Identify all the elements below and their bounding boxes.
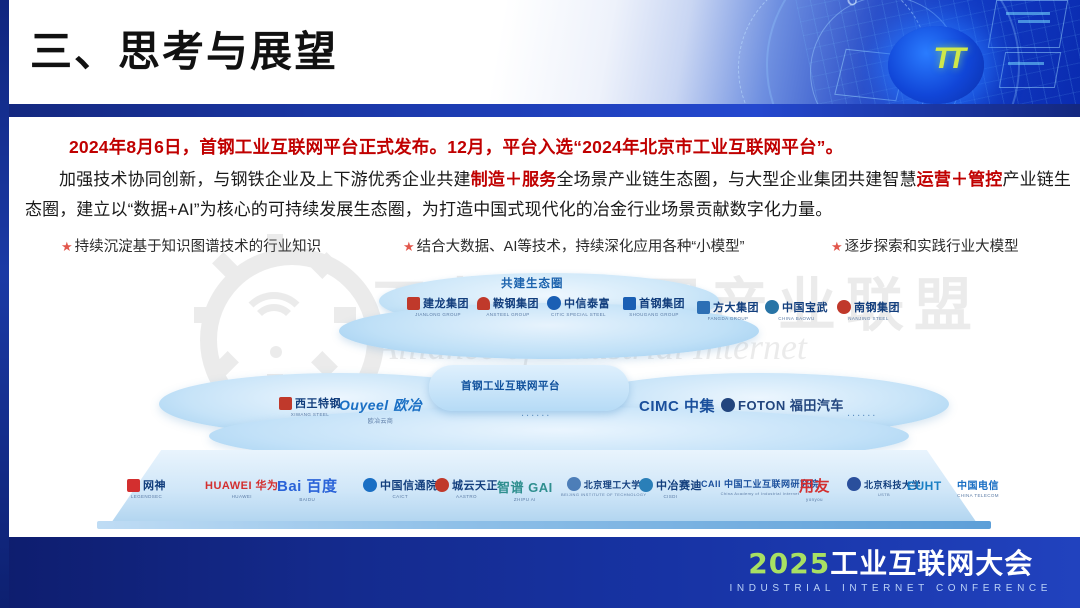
logo-legendsec[interactable]: 网神 LEGENDSEC (127, 477, 166, 499)
logo-label: 中国宝武 (782, 299, 828, 315)
logo-baowu[interactable]: 中国宝武 CHINA BAOWU (765, 299, 828, 321)
logo-sublabel: ANSTEEL GROUP (486, 312, 529, 317)
logo-sublabel: yonyou (806, 497, 823, 502)
hud-panel-icon (999, 52, 1061, 88)
logo-sublabel: SHOUGANG GROUP (629, 312, 679, 317)
logo-sublabel: BAIDU (299, 497, 315, 502)
logo-nanjing-steel[interactable]: 南钢集团 NANJING STEEL (837, 299, 900, 321)
logo-aastro[interactable]: 城云天正 AASTRO (435, 477, 498, 499)
logo-label: 中信泰富 (564, 295, 610, 311)
logo-label: 建龙集团 (423, 295, 469, 311)
logo-china-telecom[interactable]: 中国电信 CHINA TELECOM (957, 477, 999, 498)
logo-label: 北京理工大学 (584, 478, 641, 491)
logo-label: 城云天正 (452, 477, 498, 493)
bullet-label: 结合大数据、AI等技术，持续深化应用各种“小模型” (417, 239, 745, 255)
slide-root: CBD TT 三、思考与展望 2024年8月6日，首钢工业互联网平台正式发布。1… (0, 0, 1080, 608)
star-icon: ★ (403, 239, 415, 254)
tt-logo: TT (933, 42, 962, 76)
logo-zhipu-ai[interactable]: 智谱 GAI ZHIPU AI (497, 477, 553, 502)
logo-foton[interactable]: FOTON 福田汽车 (721, 395, 844, 414)
logo-label: HUAWEI 华为 (205, 477, 279, 493)
hud-bar-icon (1018, 20, 1050, 23)
conference-subtitle: INDUSTRIAL INTERNET CONFERENCE (730, 583, 1052, 594)
logo-label: 用友 (799, 475, 830, 496)
paragraph-part-1: 加强技术协同创新，与钢铁企业及上下游优秀企业共建 (59, 170, 471, 189)
bullet-item-1: ★持续沉淀基于知识图谱技术的行业知识 (61, 235, 321, 256)
left-accent-bar (0, 0, 9, 608)
logo-sublabel: CHINA TELECOM (957, 493, 999, 498)
logo-ansteel[interactable]: 鞍钢集团 ANSTEEL GROUP (477, 295, 539, 317)
header-tech-graphic: CBD TT (640, 0, 1080, 104)
hud-bar-icon (1006, 12, 1050, 15)
bullet-item-2: ★结合大数据、AI等技术，持续深化应用各种“小模型” (403, 235, 745, 256)
base-band (97, 521, 991, 529)
logo-label: 方大集团 (713, 299, 759, 315)
logo-sublabel: JIANLONG GROUP (415, 312, 461, 317)
paragraph-emphasis-2: 运营＋管控 (917, 170, 1003, 189)
logo-label: Bai 百度 (277, 475, 338, 496)
logo-sublabel: XIWANG STEEL (291, 412, 329, 417)
logo-euht[interactable]: EUHT (907, 479, 942, 493)
logo-sublabel: 欧冶云商 (368, 416, 394, 425)
logo-cisdi[interactable]: 中冶赛迪 CISDI (639, 477, 702, 499)
red-headline: 2024年8月6日，首钢工业互联网平台正式发布。12月，平台入选“2024年北京… (69, 134, 1029, 159)
logo-label: FOTON 福田汽车 (738, 395, 844, 414)
body-paragraph: 加强技术协同创新，与钢铁企业及上下游优秀企业共建制造＋服务全场景产业链生态圈，与… (25, 165, 1071, 225)
logo-fangda[interactable]: 方大集团 FANGDA GROUP (697, 299, 759, 321)
logo-sublabel: HUAWEI (232, 494, 252, 499)
logo-label: 网神 (143, 477, 166, 493)
paragraph-emphasis-1: 制造＋服务 (471, 170, 557, 189)
logo-citic-steel[interactable]: 中信泰富 CITIC SPECIAL STEEL (547, 295, 610, 317)
star-icon: ★ (831, 239, 843, 254)
logo-baidu[interactable]: Bai 百度 BAIDU (277, 475, 338, 502)
star-icon: ★ (61, 239, 73, 254)
logo-sublabel: LEGENDSEC (131, 494, 162, 499)
logo-sublabel: CHINA BAOWU (778, 316, 814, 321)
conference-branding: 2025工业互联网大会 INDUSTRIAL INTERNET CONFEREN… (730, 548, 1052, 594)
hud-bar-icon (1008, 62, 1044, 65)
logo-label: 中冶赛迪 (656, 477, 702, 493)
hud-panel-icon (988, 0, 1068, 48)
logo-label: 南钢集团 (854, 299, 900, 315)
logo-sublabel: NANJING STEEL (848, 316, 888, 321)
logo-label: Ouyeel 欧冶 (339, 395, 422, 415)
logo-yonyou[interactable]: 用友 yonyou (799, 475, 830, 502)
platform-center-label: 首钢工业互联网平台 (461, 378, 560, 393)
bullet-label: 持续沉淀基于知识图谱技术的行业知识 (75, 239, 322, 255)
logo-cimc[interactable]: CIMC 中集 (639, 395, 715, 416)
logo-jianlong[interactable]: 建龙集团 JIANLONG GROUP (407, 295, 469, 317)
bullet-label: 逐步探索和实践行业大模型 (845, 239, 1019, 255)
ellipsis-right: ...... (847, 407, 877, 419)
paragraph-part-2: 全场景产业链生态圈，与大型企业集团共建智慧 (556, 170, 916, 189)
bullet-item-3: ★逐步探索和实践行业大模型 (831, 235, 1019, 256)
logo-label: 中国信通院 (380, 477, 438, 493)
logo-label: CIMC 中集 (639, 395, 715, 416)
logo-sublabel: China Academy of Industrial Internet (721, 491, 800, 496)
logo-sublabel: ZHIPU AI (514, 497, 536, 502)
logo-label: 智谱 GAI (497, 477, 553, 496)
page-title: 三、思考与展望 (30, 28, 338, 76)
logo-sublabel: AASTRO (456, 494, 477, 499)
logo-label: 西王特钢 (295, 395, 341, 411)
logo-label: 首钢集团 (639, 295, 685, 311)
logo-label: EUHT (907, 479, 942, 493)
logo-caict[interactable]: 中国信通院 CAICT (363, 477, 438, 499)
logo-shougang[interactable]: 首钢集团 SHOUGANG GROUP (623, 295, 685, 317)
conference-year: 2025 (748, 547, 830, 580)
slide-header: CBD TT 三、思考与展望 (0, 0, 1080, 104)
logo-sublabel: USTB (878, 492, 890, 497)
layer-title-top: 共建生态圈 (501, 275, 564, 291)
logo-sublabel: CISDI (663, 494, 677, 499)
logo-ouyeel[interactable]: Ouyeel 欧冶 欧冶云商 (339, 395, 422, 425)
logo-sublabel: CITIC SPECIAL STEEL (551, 312, 606, 317)
logo-label: 鞍钢集团 (493, 295, 539, 311)
logo-label: 中国电信 (957, 477, 999, 492)
logo-huawei[interactable]: HUAWEI 华为 HUAWEI (205, 477, 279, 499)
ecosystem-diagram: 共建生态圈 首钢工业互联网平台 建龙集团 JIANLONG GROUP 鞍钢集团… (9, 255, 1080, 545)
ellipsis-left: ...... (521, 407, 551, 419)
header-divider (0, 104, 1080, 117)
logo-bit[interactable]: 北京理工大学 BEIJING INSTITUTE OF TECHNOLOGY (561, 477, 646, 497)
logo-sublabel: BEIJING INSTITUTE OF TECHNOLOGY (561, 492, 646, 497)
conference-title: 2025工业互联网大会 (730, 548, 1052, 580)
conference-title-zh: 工业互联网大会 (830, 547, 1033, 580)
logo-xiwang-steel[interactable]: 西王特钢 XIWANG STEEL (279, 395, 341, 417)
logo-sublabel: CAICT (393, 494, 409, 499)
logo-sublabel: FANGDA GROUP (708, 316, 749, 321)
